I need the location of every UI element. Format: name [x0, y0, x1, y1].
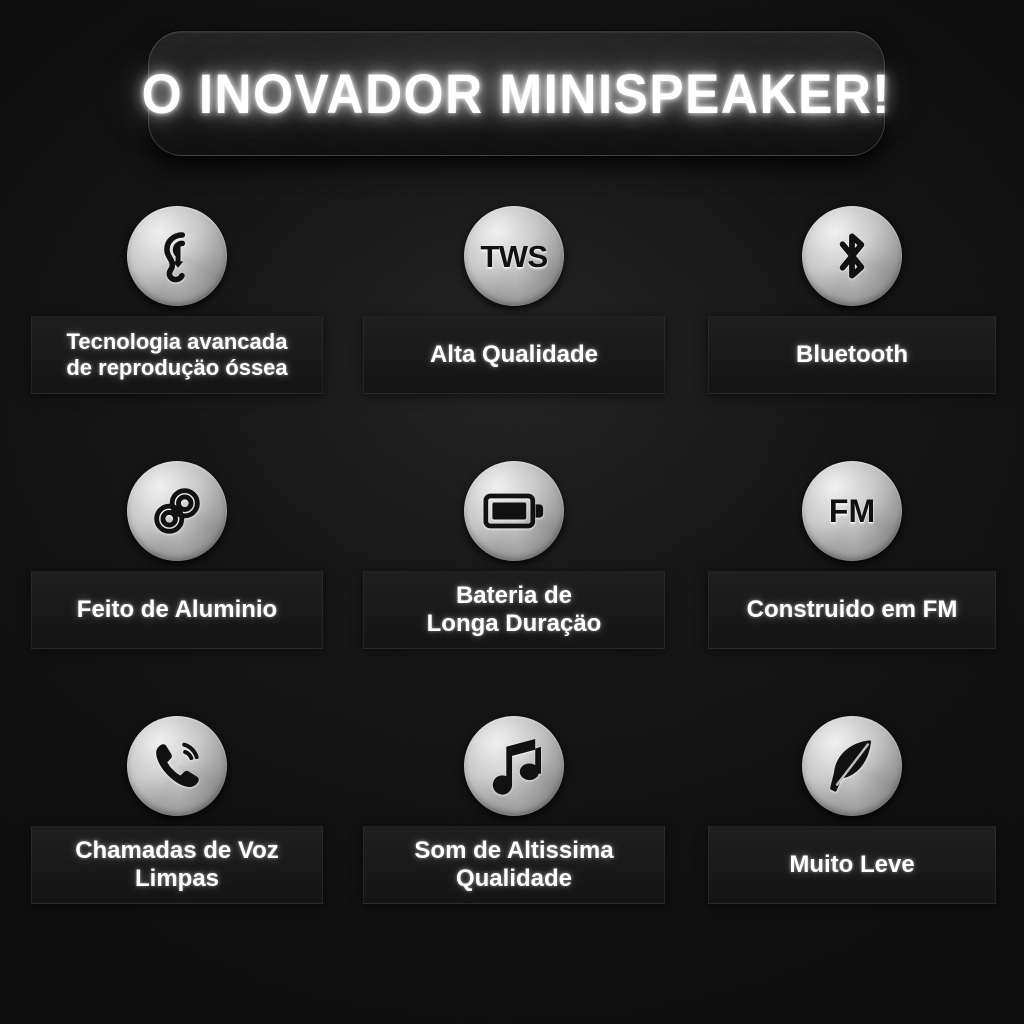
icon-disc-wrap — [31, 706, 323, 826]
icon-disc: TWS — [464, 206, 564, 306]
tws-text-icon: TWS — [480, 241, 547, 272]
feature-label: Muito Leve — [789, 851, 914, 879]
feature-caption-plate: Muito Leve — [708, 826, 996, 904]
feature-item-bone-conduction[interactable]: Tecnologia avancada de reproduçäo óssea — [31, 196, 323, 394]
feature-label: Bateria de Longa Duraçäo — [427, 582, 602, 638]
icon-disc-wrap — [31, 451, 323, 571]
icon-disc-wrap — [363, 706, 665, 826]
feature-label: Som de Altissima Qualidade — [414, 837, 613, 893]
icon-disc — [127, 461, 227, 561]
feature-caption-plate: Chamadas de Voz Limpas — [31, 826, 323, 904]
fm-text-icon: FM — [829, 495, 875, 527]
feature-caption-plate: Som de Altissima Qualidade — [363, 826, 665, 904]
icon-disc: FM — [802, 461, 902, 561]
icon-disc — [127, 206, 227, 306]
feature-row: Tecnologia avancada de reproduçäo óssea … — [0, 196, 1024, 451]
icon-disc — [127, 716, 227, 816]
feature-label: Alta Qualidade — [430, 341, 598, 369]
icon-disc — [464, 716, 564, 816]
feature-item-lightweight[interactable]: Muito Leve — [708, 706, 996, 904]
title-banner: O INOVADOR MINISPEAKER! — [148, 31, 885, 156]
feature-label: Construido em FM — [747, 596, 958, 624]
feature-item-battery[interactable]: Bateria de Longa Duraçäo — [363, 451, 665, 649]
feature-row: Feito de Aluminio Bateria de Longa Duraç… — [0, 451, 1024, 706]
icon-disc-wrap — [708, 196, 996, 316]
feature-grid: Tecnologia avancada de reproduçäo óssea … — [0, 196, 1024, 961]
icon-disc-wrap — [708, 706, 996, 826]
page-title: O INOVADOR MINISPEAKER! — [142, 66, 891, 122]
bluetooth-icon — [827, 227, 877, 285]
feature-caption-plate: Tecnologia avancada de reproduçäo óssea — [31, 316, 323, 394]
feature-caption-plate: Feito de Aluminio — [31, 571, 323, 649]
feather-icon — [824, 736, 880, 796]
feature-item-voice-calls[interactable]: Chamadas de Voz Limpas — [31, 706, 323, 904]
feature-label: Chamadas de Voz Limpas — [75, 837, 279, 893]
feature-item-sound-quality[interactable]: Som de Altissima Qualidade — [363, 706, 665, 904]
icon-disc-wrap: TWS — [363, 196, 665, 316]
feature-label: Bluetooth — [796, 341, 908, 369]
icon-disc-wrap — [31, 196, 323, 316]
feature-caption-plate: Bluetooth — [708, 316, 996, 394]
icon-disc — [802, 206, 902, 306]
icon-disc-wrap: FM — [708, 451, 996, 571]
icon-disc — [802, 716, 902, 816]
ear-bone-conduction-icon — [149, 228, 205, 284]
feature-item-tws[interactable]: TWS Alta Qualidade — [363, 196, 665, 394]
feature-row: Chamadas de Voz Limpas Som de Altissima … — [0, 706, 1024, 961]
icon-disc — [464, 461, 564, 561]
icon-disc-wrap — [363, 451, 665, 571]
feature-item-fm[interactable]: FM Construido em FM — [708, 451, 996, 649]
feature-label: Feito de Aluminio — [77, 596, 277, 624]
minispeaker-feature-poster: O INOVADOR MINISPEAKER! Te — [0, 0, 1024, 1024]
feature-item-aluminium[interactable]: Feito de Aluminio — [31, 451, 323, 649]
phone-call-icon — [148, 737, 206, 795]
music-note-icon — [487, 735, 541, 797]
feature-caption-plate: Bateria de Longa Duraçäo — [363, 571, 665, 649]
feature-item-bluetooth[interactable]: Bluetooth — [708, 196, 996, 394]
feature-label: Tecnologia avancada de reproduçäo óssea — [66, 329, 287, 380]
aluminium-drivers-icon — [146, 480, 208, 542]
feature-caption-plate: Alta Qualidade — [363, 316, 665, 394]
battery-icon — [483, 491, 545, 531]
feature-caption-plate: Construido em FM — [708, 571, 996, 649]
